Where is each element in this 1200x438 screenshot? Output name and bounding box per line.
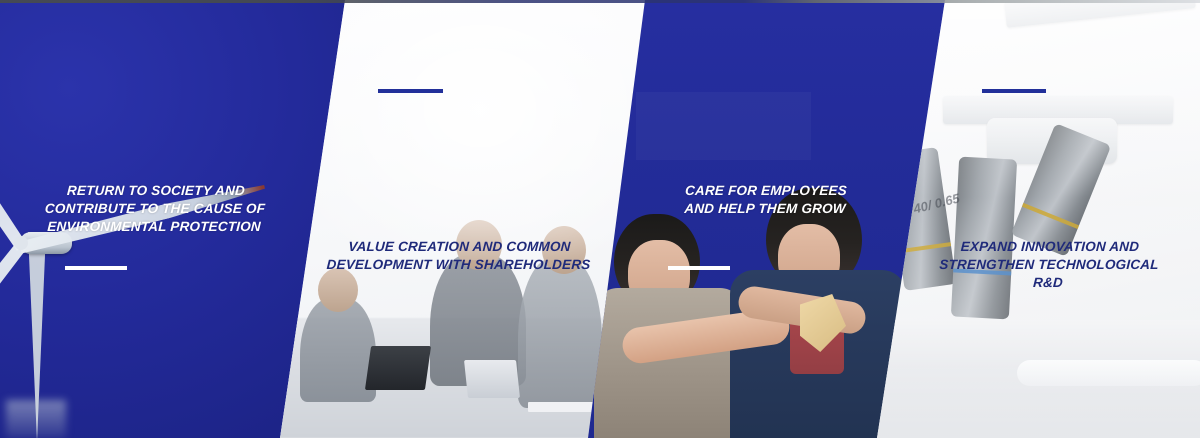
turbine-tower — [28, 232, 46, 438]
panel-4-heading: EXPAND INNOVATION AND STRENGTHEN TECHNOL… — [928, 238, 1171, 292]
laptop-right — [464, 360, 520, 398]
panel-3-heading: CARE FOR EMPLOYEES AND HELP THEM GROW — [657, 182, 874, 218]
panel-1-underline-rule — [65, 266, 127, 270]
meeting-person-left-head — [318, 268, 358, 312]
panel-4-underline-rule — [982, 89, 1046, 93]
panel-1-heading: RETURN TO SOCIETY AND CONTRIBUTE TO THE … — [39, 182, 272, 236]
top-edge-strip — [0, 0, 1200, 3]
panel-2-heading: VALUE CREATION AND COMMON DEVELOPMENT WI… — [323, 238, 595, 274]
turbine-hub — [14, 236, 28, 250]
blue-accent-block — [636, 92, 811, 160]
panel-2-underline-rule — [378, 89, 443, 93]
document-on-table — [528, 402, 594, 412]
csr-banner: RETURN TO SOCIETY AND CONTRIBUTE TO THE … — [0, 0, 1200, 438]
panel-3-underline-rule — [668, 266, 730, 270]
meeting-person-right — [518, 258, 602, 408]
laptop-left — [365, 346, 431, 390]
window-glare — [300, 0, 645, 260]
